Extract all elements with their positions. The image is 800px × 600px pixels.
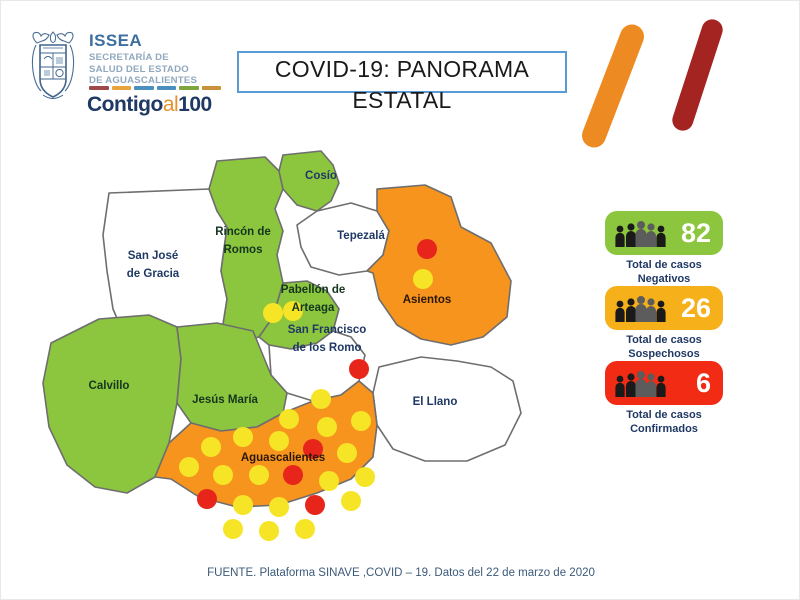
case-dot-yellow	[311, 389, 331, 409]
case-dot-yellow	[249, 465, 269, 485]
slogan: Contigoal100	[87, 93, 212, 117]
map-label-cosio: Cosío	[305, 170, 337, 182]
map-label-el-llano: El Llano	[413, 396, 458, 408]
stat-pill-confirmados: 6	[605, 361, 723, 405]
stat-value-confirmados: 6	[696, 370, 711, 397]
people-group-icon	[614, 295, 666, 322]
case-dot-yellow	[337, 443, 357, 463]
map-label-asientos: Asientos	[403, 294, 452, 306]
map-label-aguascalientes: Aguascalientes	[241, 452, 325, 464]
page-title-line-2: ESTATAL	[237, 87, 567, 114]
map-svg: Cosío Rincón de Romos Tepezalá San José …	[21, 131, 581, 551]
case-dot-red	[305, 495, 325, 515]
org-line-2: SALUD DEL ESTADO	[89, 64, 197, 76]
case-dot-yellow	[263, 303, 283, 323]
case-dot-yellow	[179, 457, 199, 477]
slogan-part-al: al	[163, 93, 178, 116]
case-dot-yellow	[295, 519, 315, 539]
case-dot-yellow	[341, 491, 361, 511]
issea-logo-block: ISSEA SECRETARÍA DE SALUD DEL ESTADO DE …	[23, 29, 233, 119]
stat-caption-negativos: Total de casos Negativos	[605, 259, 723, 287]
stat-caption-sospechosos-line1: Total de casos	[605, 334, 723, 348]
org-abbreviation: ISSEA	[89, 31, 197, 51]
stat-value-negativos: 82	[681, 220, 711, 247]
map-label-san-jose-de-gracia-line2: de Gracia	[127, 268, 180, 280]
stat-caption-sospechosos-line2: Sospechosos	[605, 348, 723, 362]
municipality-asientos[interactable]	[367, 185, 511, 345]
map-label-calvillo: Calvillo	[89, 380, 130, 392]
stat-caption-sospechosos: Total de casos Sospechosos	[605, 334, 723, 362]
map-label-san-jose-de-gracia-line1: San José	[128, 250, 179, 262]
slogan-part-100: 100	[178, 93, 212, 116]
map-label-rincon-de-romos-line1: Rincón de	[215, 226, 271, 238]
case-dot-yellow	[355, 467, 375, 487]
map-label-san-francisco-de-los-romo-line2: de los Romo	[292, 342, 361, 354]
stat-card-negativos[interactable]: 82 Total de casos Negativos	[605, 211, 723, 287]
map-label-pabellon-de-arteaga-line2: Arteaga	[292, 302, 335, 314]
case-dot-yellow	[201, 437, 221, 457]
stat-value-sospechosos: 26	[681, 295, 711, 322]
map-label-tepezala: Tepezalá	[337, 230, 385, 242]
stat-caption-confirmados: Total de casos Confirmados	[605, 409, 723, 437]
page-title-line-1: COVID-19: PANORAMA	[237, 56, 567, 83]
case-dot-yellow	[259, 521, 279, 541]
case-dot-yellow	[233, 427, 253, 447]
case-dot-yellow	[233, 495, 253, 515]
stat-card-confirmados[interactable]: 6 Total de casos Confirmados	[605, 361, 723, 437]
people-group-icon	[614, 220, 666, 247]
case-dot-yellow	[269, 431, 289, 451]
case-dot-yellow	[351, 411, 371, 431]
stat-caption-negativos-line1: Total de casos	[605, 259, 723, 273]
brand-color-rule	[89, 86, 221, 90]
org-full-name: SECRETARÍA DE SALUD DEL ESTADO DE AGUASC…	[89, 52, 197, 87]
case-dot-yellow	[317, 417, 337, 437]
case-dot-red	[283, 465, 303, 485]
stat-pill-sospechosos: 26	[605, 286, 723, 330]
case-dot-yellow	[279, 409, 299, 429]
municipality-el-llano[interactable]	[373, 357, 521, 461]
case-dot-yellow	[223, 519, 243, 539]
stat-caption-negativos-line2: Negativos	[605, 273, 723, 287]
infographic-slide: ISSEA SECRETARÍA DE SALUD DEL ESTADO DE …	[0, 0, 800, 600]
case-dot-red	[349, 359, 369, 379]
decorative-swoosh-red	[670, 17, 726, 134]
case-dot-yellow	[413, 269, 433, 289]
stat-caption-confirmados-line1: Total de casos	[605, 409, 723, 423]
map-label-pabellon-de-arteaga-line1: Pabellón de	[281, 284, 346, 296]
case-dot-yellow	[269, 497, 289, 517]
case-dot-red	[417, 239, 437, 259]
map-label-san-francisco-de-los-romo-line1: San Francisco	[288, 324, 367, 336]
org-line-3: DE AGUASCALIENTES	[89, 75, 197, 87]
case-dot-yellow	[213, 465, 233, 485]
coat-of-arms-icon	[23, 29, 83, 105]
people-group-icon	[614, 370, 666, 397]
map-label-rincon-de-romos-line2: Romos	[224, 244, 263, 256]
decorative-swoosh-orange	[579, 21, 648, 151]
slogan-part-contigo: Contigo	[87, 93, 163, 116]
stat-pill-negativos: 82	[605, 211, 723, 255]
case-dot-red	[197, 489, 217, 509]
source-footer: FUENTE. Plataforma SINAVE ,COVID – 19. D…	[1, 567, 800, 579]
stat-card-sospechosos[interactable]: 26 Total de casos Sospechosos	[605, 286, 723, 362]
org-line-1: SECRETARÍA DE	[89, 52, 197, 64]
stat-caption-confirmados-line2: Confirmados	[605, 423, 723, 437]
map-label-jesus-maria: Jesús María	[192, 394, 258, 406]
aguascalientes-state-map: Cosío Rincón de Romos Tepezalá San José …	[21, 131, 581, 551]
case-dot-yellow	[319, 471, 339, 491]
